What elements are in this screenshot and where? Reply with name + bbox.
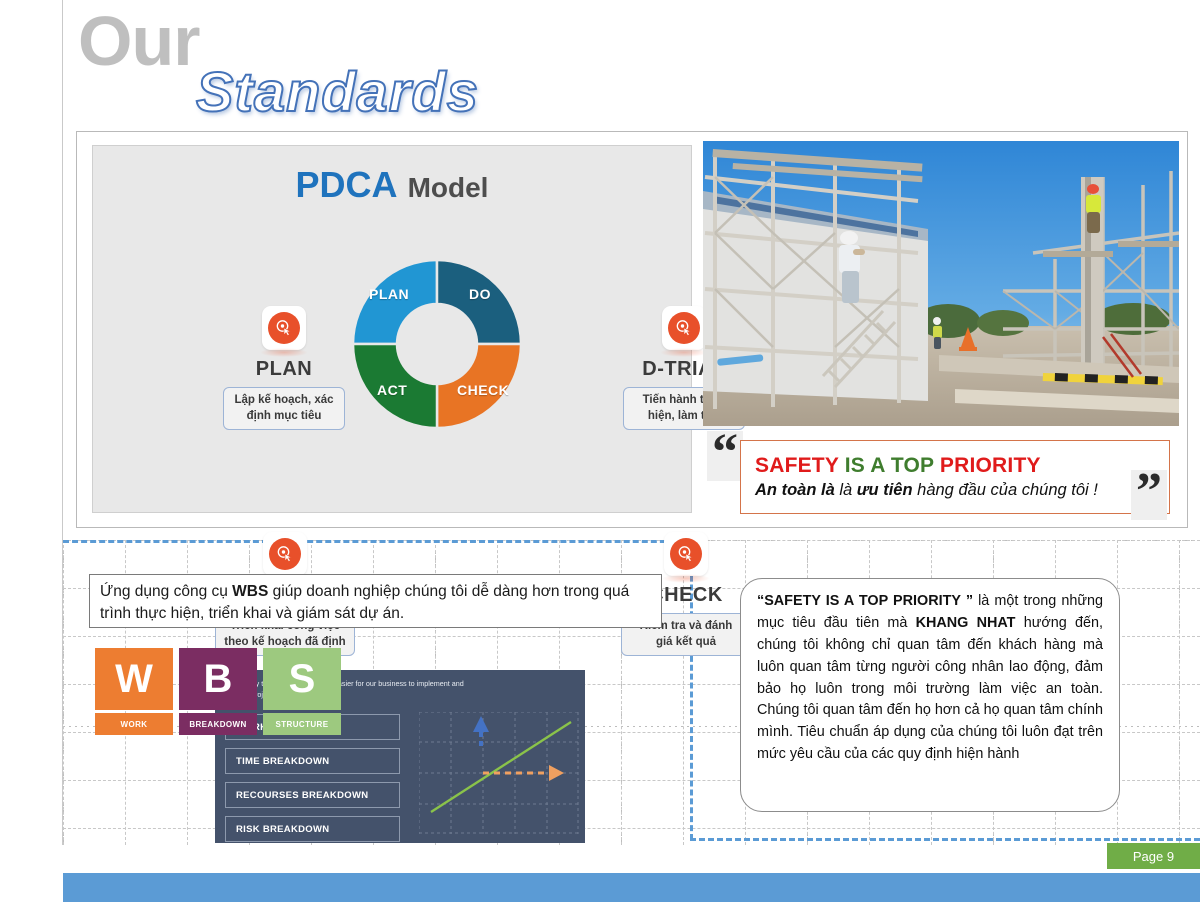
wbs-word-structure: STRUCTURE [263, 713, 341, 735]
page-title: Our Standards [78, 6, 199, 76]
wbs-caption-bold: WBS [232, 583, 268, 600]
wbs-letter-b: B [179, 648, 257, 710]
slide-canvas: Our Standards PDCAModel PLAN DO CHECK AC… [0, 0, 1200, 902]
title-word-our: Our [78, 6, 199, 76]
safety-description-card: “SAFETY IS A TOP PRIORITY ” là một trong… [740, 578, 1120, 812]
safety-card-company: KHANG NHAT [916, 615, 1016, 631]
safety-sub-bold-2: ưu tiên [857, 481, 917, 499]
cursor-click-icon [262, 306, 306, 350]
donut-label-plan: PLAN [369, 286, 409, 302]
wbs-letter-w: W [95, 648, 173, 710]
wbs-panel-quote: “ We apply the WBS tool makes it easier … [225, 679, 470, 701]
pdca-donut-chart: PLAN DO CHECK ACT [347, 254, 527, 434]
pdca-title-main: PDCA [296, 164, 398, 205]
pdca-corner-plan: PLAN Lập kế hoạch, xác định mục tiêu [223, 306, 345, 430]
safety-card-quote: “SAFETY IS A TOP PRIORITY ” [757, 593, 973, 609]
blue-dashed-divider-top [63, 540, 693, 543]
safety-sub-rest: hàng đầu của chúng tôi ! [917, 481, 1098, 499]
bottom-accent-bar [63, 873, 1200, 902]
page-number-badge: Page 9 [1107, 843, 1200, 869]
donut-label-check: CHECK [457, 382, 509, 398]
safety-banner-subline: An toàn là là ưu tiên hàng đầu của chúng… [755, 481, 1155, 500]
wbs-block-structure: S STRUCTURE [263, 648, 341, 735]
wbs-block-breakdown: B BREAKDOWN [179, 648, 257, 735]
safety-card-text-2: hướng đến, chúng tôi không chỉ quan tâm … [757, 615, 1103, 762]
pdca-model-panel: PDCAModel PLAN DO CHECK ACT [92, 145, 692, 513]
donut-label-do: DO [469, 286, 491, 302]
blue-dashed-divider-bottom [690, 838, 1200, 841]
cursor-click-icon [263, 532, 307, 576]
cursor-click-icon [664, 532, 708, 576]
donut-label-act: ACT [377, 382, 407, 398]
construction-site-photo [703, 141, 1179, 426]
safety-word-safety: SAFETY [755, 454, 839, 477]
pdca-title-sub: Model [408, 172, 489, 203]
corner-title-plan: PLAN [223, 358, 345, 381]
wbs-graphic: “ We apply the WBS tool makes it easier … [95, 648, 585, 843]
wbs-word-work: WORK [95, 713, 173, 735]
cursor-click-icon [662, 306, 706, 350]
wbs-word-breakdown: BREAKDOWN [179, 713, 257, 735]
safety-word-isatop: IS A TOP [845, 454, 934, 477]
title-word-standards: Standards [196, 64, 479, 120]
safety-word-priority: PRIORITY [940, 454, 1041, 477]
safety-banner-headline: SAFETY IS A TOP PRIORITY [755, 454, 1155, 478]
wbs-letter-s: S [263, 648, 341, 710]
wbs-block-work: W WORK [95, 648, 173, 735]
pdca-title: PDCAModel [93, 164, 691, 206]
wbs-row-risk[interactable]: RISK BREAKDOWN [225, 816, 400, 842]
wbs-caption-pre: Ứng dụng công cụ [100, 583, 232, 600]
safety-sub-plain-1: là [839, 481, 856, 499]
wbs-trend-chart [419, 712, 579, 834]
safety-banner: SAFETY IS A TOP PRIORITY An toàn là là ư… [740, 440, 1170, 514]
safety-sub-bold-1: An toàn là [755, 481, 839, 499]
wbs-row-recourses[interactable]: RECOURSES BREAKDOWN [225, 782, 400, 808]
quote-open-mark: “ [707, 431, 743, 481]
wbs-row-time[interactable]: TIME BREAKDOWN [225, 748, 400, 774]
corner-desc-plan: Lập kế hoạch, xác định mục tiêu [223, 387, 345, 430]
quote-close-mark: ” [1131, 470, 1167, 520]
wbs-caption-box: Ứng dụng công cụ WBS giúp doanh nghiệp c… [89, 574, 662, 628]
